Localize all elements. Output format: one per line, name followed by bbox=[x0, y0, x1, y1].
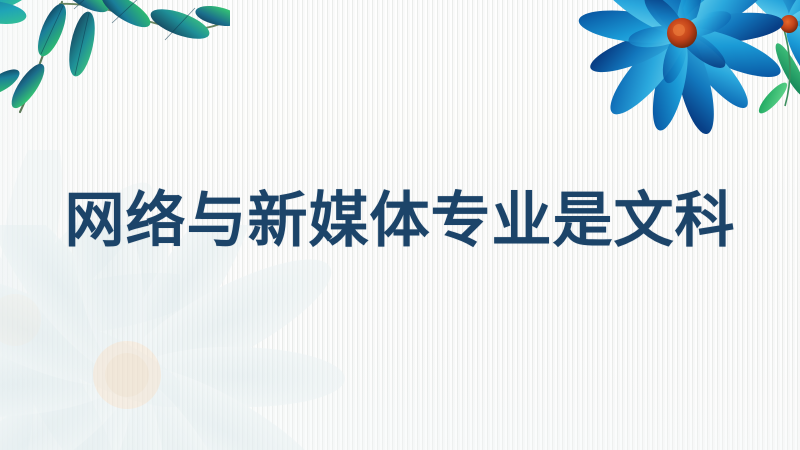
slide-canvas: 网络与新媒体专业是文科 bbox=[0, 0, 800, 450]
page-title: 网络与新媒体专业是文科 bbox=[65, 186, 736, 256]
title-container: 网络与新媒体专业是文科 bbox=[0, 186, 800, 256]
